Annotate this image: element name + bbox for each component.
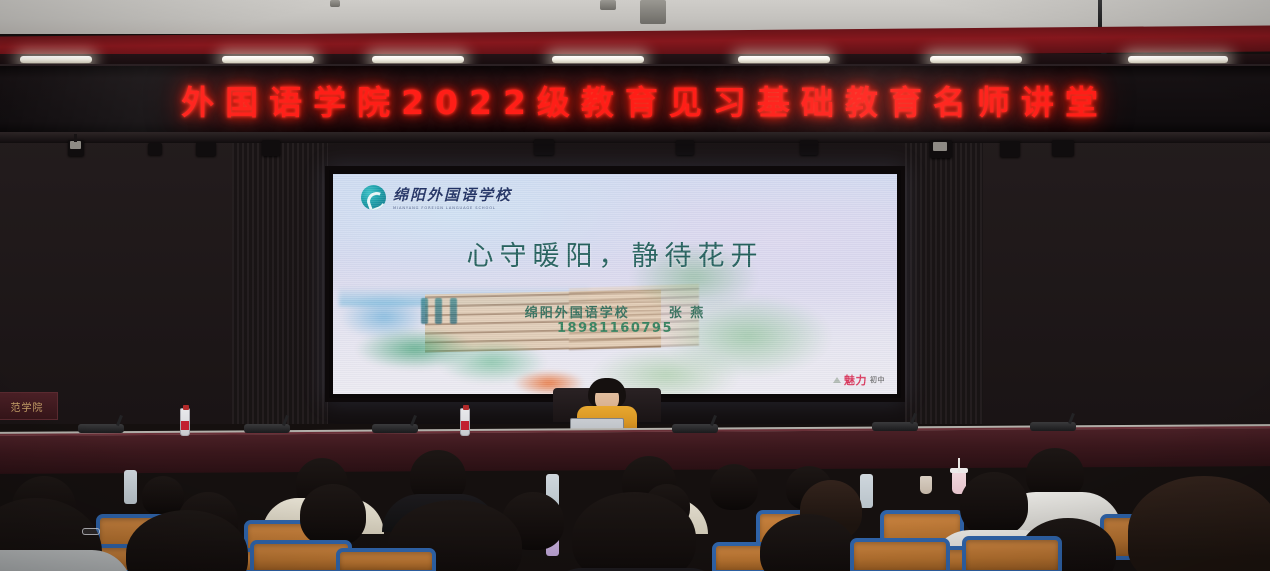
lecture-hall-photo: 外国语学院2022级教育见习基础教育名师讲堂 范学院: [0, 0, 1270, 571]
slide-presenter-phone: 18981160795: [333, 321, 897, 336]
presenter-name: 张 燕: [669, 306, 706, 321]
desk-microphone-2: [244, 424, 290, 433]
ceiling-light-1: [20, 56, 92, 63]
audience-head-r1-6: [1128, 476, 1270, 571]
tumbler-back-right: [860, 474, 873, 508]
seat-r1-4: [962, 536, 1062, 571]
desk-microphone-6: [1030, 422, 1076, 431]
ceiling-duct: [330, 0, 340, 7]
stage-spotlight-1-lens: [70, 141, 81, 149]
led-banner: 外国语学院2022级教育见习基础教育名师讲堂: [0, 64, 1270, 136]
school-logo-name-en: MIANYANG FOREIGN LANGUAGE SCHOOL: [393, 206, 512, 210]
watermark-triangle-icon: [833, 377, 841, 383]
stage-spotlight-4: [262, 140, 280, 156]
ceiling-projector-mount: [600, 0, 616, 10]
watermark-subtitle: 初中: [870, 375, 885, 385]
slide-watermark: 魅力 初中: [833, 372, 885, 388]
bottle-cap: [463, 405, 469, 410]
stage-spotlight-7: [800, 140, 818, 155]
stage-spotlight-5: [534, 139, 554, 155]
ceiling-light-4: [552, 56, 644, 63]
slide-presenter-line: 绵阳外国语学校 张 燕: [333, 302, 897, 321]
desk-microphone-4: [672, 424, 718, 433]
bottle-cap: [183, 405, 189, 410]
coffee-cup: [920, 476, 932, 494]
venue-placard: 范学院: [0, 392, 58, 420]
stage-spotlight-1-arm: [74, 134, 77, 142]
slide-title: 心守暖阳，静待花开: [333, 234, 897, 273]
stage-spotlight-6: [676, 140, 694, 155]
school-logo: 绵阳外国语学校 MIANYANG FOREIGN LANGUAGE SCHOOL: [361, 184, 512, 210]
school-logo-name: 绵阳外国语学校: [393, 186, 512, 204]
stage-spotlight-3: [196, 142, 216, 156]
wall-panel-left-ribbed: [232, 134, 328, 424]
led-banner-text: 外国语学院2022级教育见习基础教育名师讲堂: [0, 66, 1270, 134]
audience-area: [0, 448, 1270, 571]
ceiling-light-3: [372, 56, 464, 63]
seat-r1-2: [336, 548, 436, 571]
projection-screen: 绵阳外国语学校 MIANYANG FOREIGN LANGUAGE SCHOOL…: [325, 166, 905, 402]
wall-panel-far-left: [0, 134, 232, 424]
wall-panel-right-ribbed: [905, 134, 983, 424]
ceiling-speaker-box: [640, 0, 666, 24]
stage-spotlight-2: [148, 143, 162, 155]
ceiling-light-2: [222, 56, 314, 63]
desk-microphone-5: [872, 422, 918, 431]
tumbler-back-left: [124, 470, 137, 504]
watermark-brand: 魅力: [844, 372, 867, 388]
audience-head-r2-3: [300, 484, 366, 546]
stage-spotlight-8-lens: [933, 142, 947, 151]
audience-head-r2-6: [960, 472, 1028, 536]
presenter-school: 绵阳外国语学校: [525, 306, 630, 321]
stage-lighting-truss: [0, 132, 1270, 143]
cup-straw: [958, 458, 960, 472]
ceiling-light-7: [1128, 56, 1228, 63]
presentation-slide: 绵阳外国语学校 MIANYANG FOREIGN LANGUAGE SCHOOL…: [333, 174, 897, 394]
water-bottle-center: [460, 408, 470, 436]
stage-spotlight-9: [1000, 141, 1020, 157]
school-logo-icon: [361, 185, 386, 210]
ceiling-light-6: [930, 56, 1022, 63]
ceiling-light-5: [738, 56, 830, 63]
audience-glasses: [82, 528, 100, 535]
water-bottle-left: [180, 408, 190, 436]
venue-placard-text: 范学院: [11, 399, 44, 414]
audience-head-r3-4: [710, 464, 758, 510]
seat-r1-3: [850, 538, 950, 571]
desk-microphone-1: [78, 424, 124, 433]
desk-microphone-3: [372, 424, 418, 433]
school-logo-text-block: 绵阳外国语学校 MIANYANG FOREIGN LANGUAGE SCHOOL: [393, 184, 512, 210]
presenter-fringe: [590, 382, 624, 393]
wall-panel-far-right: [983, 134, 1270, 424]
stage-spotlight-10: [1052, 140, 1074, 156]
